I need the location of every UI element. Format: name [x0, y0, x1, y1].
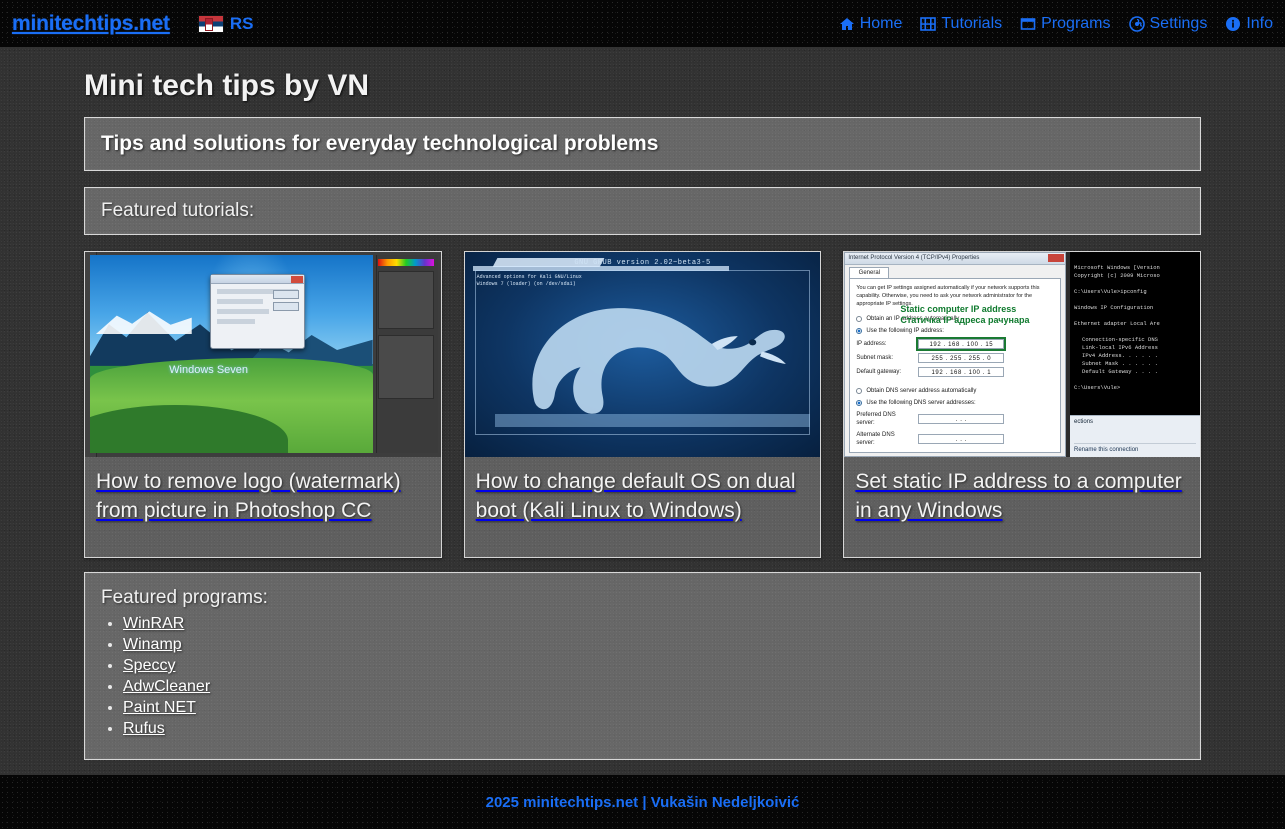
nav-label-tutorials: Tutorials [941, 15, 1002, 33]
nav-label-info: Info [1246, 15, 1273, 33]
cmd-line-5: Ethernet adapter Local Are [1074, 320, 1197, 328]
home-icon [839, 16, 855, 32]
cmd-line-4: Windows IP Configuration [1074, 304, 1197, 312]
thumb-ip-value-gateway: 192 . 168 . 100 . 1 [918, 367, 1004, 377]
tutorial-card-dual-boot[interactable]: GNU GRUB version 2.02~beta3-5 Advanced o… [464, 251, 822, 558]
featured-programs-panel: Featured programs: WinRAR Winamp Speccy … [84, 572, 1201, 760]
featured-programs-heading: Featured programs: [101, 587, 1184, 609]
footer-copyright: 2025 minitechtips.net | Vukašin Nedeljko… [486, 794, 800, 811]
program-link-paint-net[interactable]: Paint NET [123, 699, 196, 716]
thumb-connection-panel: ections Rename this connection [1070, 415, 1200, 457]
language-switcher[interactable]: RS [198, 14, 254, 34]
tutorial-card-photoshop-watermark[interactable]: Windows Seven How to remove logo (waterm… [84, 251, 442, 558]
thumb-ip-window-title: Internet Protocol Version 4 (TCP/IPv4) P… [845, 253, 1065, 265]
cmd-line-9: Subnet Mask . . . . . . [1074, 360, 1197, 368]
nav-item-info[interactable]: Info [1225, 15, 1273, 33]
subtitle-panel: Tips and solutions for everyday technolo… [84, 117, 1201, 171]
cmd-line-3: C:\Users\Vule>ipconfig [1074, 288, 1197, 296]
program-link-winrar[interactable]: WinRAR [123, 615, 184, 632]
thumb-grub-title: GNU GRUB version 2.02~beta3-5 [465, 259, 821, 267]
cmd-line-1: Microsoft Windows [Version [1074, 264, 1197, 272]
kali-dragon-logo [514, 285, 791, 424]
list-item: Paint NET [123, 699, 1184, 717]
thumb-ip-intro: You can get IP settings assigned automat… [856, 284, 1054, 306]
cmd-line-7: Link-local IPv6 Address [1074, 344, 1197, 352]
thumb-annotation: Static computer IP address Статичка IP а… [900, 304, 1029, 326]
tutorial-cards: Windows Seven How to remove logo (waterm… [84, 251, 1201, 558]
program-link-winamp[interactable]: Winamp [123, 636, 182, 653]
program-link-rufus[interactable]: Rufus [123, 720, 165, 737]
thumb-dns-label-2: Alternate DNS server: [856, 431, 914, 447]
page-content: Mini tech tips by VN Tips and solutions … [0, 69, 1285, 760]
thumb-taskbar-line-1: ections [1070, 416, 1200, 428]
thumb-ip-label-ip: IP address: [856, 340, 914, 348]
cmd-line-2: Copyright (c) 2009 Microso [1074, 272, 1197, 280]
list-item: WinRAR [123, 615, 1184, 633]
tutorial-card-title: How to remove logo (watermark) from pict… [85, 457, 441, 557]
tutorial-card-static-ip[interactable]: Internet Protocol Version 4 (TCP/IPv4) P… [843, 251, 1201, 558]
nav-label-settings: Settings [1150, 15, 1208, 33]
film-icon [920, 16, 936, 32]
gear-icon [1129, 16, 1145, 32]
nav-item-home[interactable]: Home [839, 15, 903, 33]
thumb-dns-opt-manual: Use the following DNS server addresses: [866, 399, 975, 407]
cmd-line-11: C:\Users\Vule> [1074, 384, 1197, 392]
thumb-annotation-sr: Статичка IP адреса рачунара [900, 315, 1029, 326]
nav-label-home: Home [860, 15, 903, 33]
thumb-annotation-en: Static computer IP address [900, 304, 1029, 315]
site-logo[interactable]: minitechtips.net [12, 12, 170, 36]
nav-label-programs: Programs [1041, 15, 1110, 33]
cmd-line-8: IPv4 Address. . . . . . [1074, 352, 1197, 360]
program-link-speccy[interactable]: Speccy [123, 657, 175, 674]
window-icon [1020, 16, 1036, 32]
top-navigation-bar: minitechtips.net RS Home Tutorials Progr… [0, 0, 1285, 47]
list-item: Winamp [123, 636, 1184, 654]
featured-programs-list: WinRAR Winamp Speccy AdwCleaner Paint NE… [123, 615, 1184, 738]
thumb-dns-label-1: Preferred DNS server: [856, 411, 914, 427]
tutorial-card-title: Set static IP address to a computer in a… [844, 457, 1200, 557]
thumb-rename-connection: Rename this connection [1074, 443, 1196, 453]
nav-item-settings[interactable]: Settings [1129, 15, 1208, 33]
thumbnail-photoshop-watermark: Windows Seven [85, 252, 441, 457]
thumbnail-kali-grub: GNU GRUB version 2.02~beta3-5 Advanced o… [465, 252, 821, 457]
program-link-adwcleaner[interactable]: AdwCleaner [123, 678, 210, 695]
thumb-ip-label-gateway: Default gateway: [856, 368, 914, 376]
thumb-dns-opt-auto: Obtain DNS server address automatically [866, 387, 976, 395]
serbian-flag-icon [198, 15, 224, 33]
info-icon [1225, 16, 1241, 32]
page-footer: 2025 minitechtips.net | Vukašin Nedeljko… [0, 775, 1285, 829]
featured-tutorials-heading: Featured tutorials: [101, 200, 1184, 222]
cmd-line-6: Connection-specific DNS [1074, 336, 1197, 344]
language-code-label: RS [230, 14, 254, 34]
list-item: Rufus [123, 720, 1184, 738]
cmd-line-10: Default Gateway . . . . [1074, 368, 1197, 376]
thumb-ip-value-subnet: 255 . 255 . 255 . 0 [918, 353, 1004, 363]
main-menu: Home Tutorials Programs Settings Info [839, 15, 1273, 33]
page-subtitle: Tips and solutions for everyday technolo… [101, 132, 1184, 156]
thumb-grub-entry-1: Advanced options for Kali GNU/Linux [477, 274, 582, 281]
featured-tutorials-heading-panel: Featured tutorials: [84, 187, 1201, 235]
list-item: AdwCleaner [123, 678, 1184, 696]
list-item: Speccy [123, 657, 1184, 675]
thumbnail-windows-ip-settings: Internet Protocol Version 4 (TCP/IPv4) P… [844, 252, 1200, 457]
thumb-ip-value-ip: 192 . 168 . 100 . 15 [918, 339, 1004, 349]
tutorial-card-title: How to change default OS on dual boot (K… [465, 457, 821, 557]
thumb-ip-opt-manual: Use the following IP address: [866, 327, 944, 335]
nav-item-programs[interactable]: Programs [1020, 15, 1110, 33]
thumb-ip-label-subnet: Subnet mask: [856, 354, 914, 362]
thumb-watermark-text: Windows Seven [169, 364, 248, 376]
page-title: Mini tech tips by VN [84, 69, 1285, 103]
nav-item-tutorials[interactable]: Tutorials [920, 15, 1002, 33]
